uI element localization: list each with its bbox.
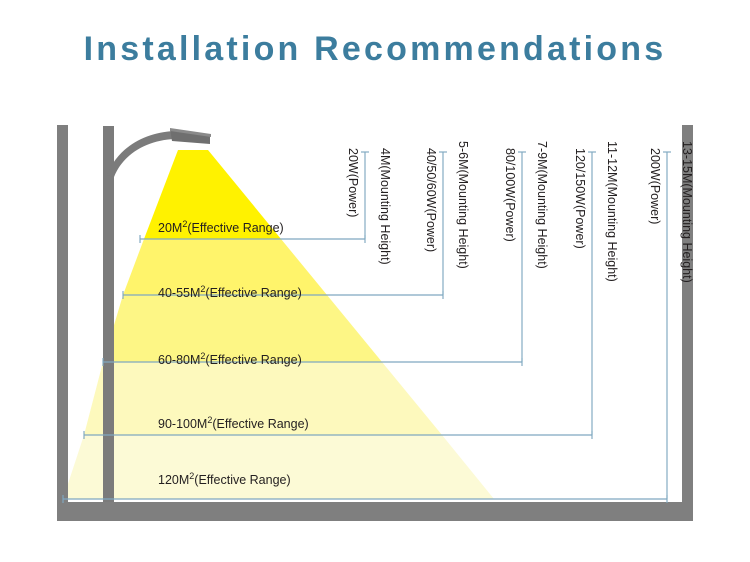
mounting-height-label-13-15m: 13-15M(Mounting Height) <box>680 141 694 283</box>
ground-platform-step <box>188 502 462 512</box>
power-label-20w: 20W(Power) <box>346 148 360 217</box>
effective-range-text-1: 20M2(Effective Range) <box>158 221 284 235</box>
effective-range-label-1: 20M2(Effective Range) <box>158 221 284 235</box>
effective-range-text-4: 90-100M2(Effective Range) <box>158 417 309 431</box>
street-lamp-pole <box>103 126 114 502</box>
mounting-height-label-7-9m: 7-9M(Mounting Height) <box>535 141 549 269</box>
effective-range-label-2: 40-55M2(Effective Range) <box>158 286 302 300</box>
beam-band-5 <box>63 435 494 499</box>
effective-range-text-5: 120M2(Effective Range) <box>158 473 291 487</box>
left-wall-column <box>57 125 68 502</box>
effective-range-label-3: 60-80M2(Effective Range) <box>158 353 302 367</box>
power-label-200w: 200W(Power) <box>648 148 662 224</box>
ground-platform-bottom-band <box>57 511 693 521</box>
mounting-height-label-5-6m: 5-6M(Mounting Height) <box>456 141 470 269</box>
power-label-80-100w: 80/100W(Power) <box>503 148 517 242</box>
mounting-height-label-4m: 4M(Mounting Height) <box>378 148 392 265</box>
street-lamp-curved-arm <box>107 131 178 177</box>
power-label-120-150w: 120/150W(Power) <box>573 148 587 249</box>
effective-range-label-5: 120M2(Effective Range) <box>158 473 291 487</box>
effective-range-label-4: 90-100M2(Effective Range) <box>158 417 309 431</box>
effective-range-text-3: 60-80M2(Effective Range) <box>158 353 302 367</box>
mounting-height-label-11-12m: 11-12M(Mounting Height) <box>605 141 619 282</box>
installation-diagram <box>0 0 750 562</box>
effective-range-text-2: 40-55M2(Effective Range) <box>158 286 302 300</box>
installation-recommendations-page: Installation Recommendations <box>0 0 750 562</box>
beam-band-3 <box>103 295 382 362</box>
power-label-40-50-60w: 40/50/60W(Power) <box>424 148 438 252</box>
